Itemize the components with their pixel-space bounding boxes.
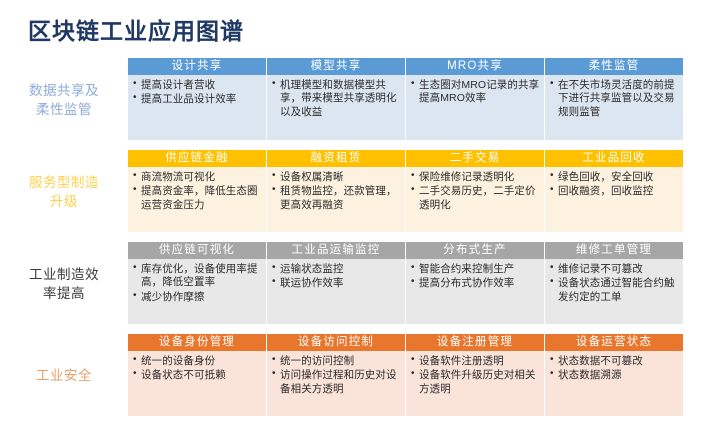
matrix-row: 工业安全设备身份管理统一的设备身份设备状态不可抵赖设备访问控制统一的访问控制访问… <box>0 334 713 419</box>
card-bullet-list: 库存优化，设备使用率提高，降低空置率减少协作摩擦 <box>133 263 262 304</box>
card-heading: 供应链金融 <box>128 150 266 167</box>
card-body: 智能合约来控制生产提高分布式协作效率 <box>406 259 544 324</box>
card-bullet-list: 统一的访问控制访问操作过程和历史对设备相关方透明 <box>272 355 401 396</box>
card-bullet: 二手交易历史，二手定价透明化 <box>411 185 540 212</box>
card-bullet-list: 智能合约来控制生产提高分布式协作效率 <box>411 263 540 291</box>
card-bullet: 保险维修记录透明化 <box>411 171 540 184</box>
matrix-card[interactable]: 工业品运输监控运输状态监控联运协作效率 <box>267 242 405 324</box>
card-body: 维修记录不可篡改设备状态通过智能合约触发约定的工单 <box>545 259 683 324</box>
matrix-card[interactable]: 设备注册管理设备软件注册透明设备软件升级历史对相关方透明 <box>406 334 544 416</box>
card-heading: 设备注册管理 <box>406 334 544 351</box>
card-body: 商流物流可视化提高资金率，降低生态圈运营资金压力 <box>128 167 266 232</box>
card-bullet: 统一的访问控制 <box>272 355 401 368</box>
matrix-card[interactable]: 模型共享机理模型和数据模型共享，带来模型共享透明化以及收益 <box>267 58 405 140</box>
row-cards: 设备身份管理统一的设备身份设备状态不可抵赖设备访问控制统一的访问控制访问操作过程… <box>128 334 693 419</box>
card-bullet: 状态数据不可篡改 <box>550 355 679 368</box>
matrix-card[interactable]: 设备运营状态状态数据不可篡改状态数据溯源 <box>545 334 683 416</box>
card-bullet: 设备软件注册透明 <box>411 355 540 368</box>
card-bullet: 在不失市场灵活度的前提下进行共享监管以及交易规则监管 <box>550 79 679 119</box>
card-body: 生态圈对MRO记录的共享提高MRO效率 <box>406 75 544 140</box>
row-label-4: 工业安全 <box>8 334 120 419</box>
card-body: 库存优化，设备使用率提高，降低空置率减少协作摩擦 <box>128 259 266 324</box>
card-heading: 模型共享 <box>267 58 405 75</box>
slide-canvas: 区块链工业应用图谱 数据共享及柔性监管设计共享提高设计者营收提高工业品设计效率模… <box>0 0 713 443</box>
row-label-text: 数据共享及柔性监管 <box>29 82 99 118</box>
matrix-card[interactable]: 供应链金融商流物流可视化提高资金率，降低生态圈运营资金压力 <box>128 150 266 232</box>
card-bullet-list: 保险维修记录透明化二手交易历史，二手定价透明化 <box>411 171 540 212</box>
card-body: 保险维修记录透明化二手交易历史，二手定价透明化 <box>406 167 544 232</box>
card-body: 统一的设备身份设备状态不可抵赖 <box>128 351 266 416</box>
matrix-grid: 数据共享及柔性监管设计共享提高设计者营收提高工业品设计效率模型共享机理模型和数据… <box>0 58 713 426</box>
card-bullet: 统一的设备身份 <box>133 355 262 368</box>
card-body: 绿色回收，安全回收回收融资，回收监控 <box>545 167 683 232</box>
card-heading: 设计共享 <box>128 58 266 75</box>
card-heading: 分布式生产 <box>406 242 544 259</box>
card-heading: 设备身份管理 <box>128 334 266 351</box>
card-bullet-list: 状态数据不可篡改状态数据溯源 <box>550 355 679 383</box>
card-heading: 设备运营状态 <box>545 334 683 351</box>
card-bullet-list: 绿色回收，安全回收回收融资，回收监控 <box>550 171 679 199</box>
card-bullet: 库存优化，设备使用率提高，降低空置率 <box>133 263 262 290</box>
card-bullet: 提高工业品设计效率 <box>133 93 262 106</box>
card-body: 提高设计者营收提高工业品设计效率 <box>128 75 266 140</box>
card-heading: 供应链可视化 <box>128 242 266 259</box>
matrix-card[interactable]: 供应链可视化库存优化，设备使用率提高，降低空置率减少协作摩擦 <box>128 242 266 324</box>
row-label-3: 工业制造效率提高 <box>8 242 120 327</box>
matrix-card[interactable]: 柔性监管在不失市场灵活度的前提下进行共享监管以及交易规则监管 <box>545 58 683 140</box>
matrix-card[interactable]: 维修工单管理维修记录不可篡改设备状态通过智能合约触发约定的工单 <box>545 242 683 324</box>
card-bullet: 商流物流可视化 <box>133 171 262 184</box>
card-bullet: 机理模型和数据模型共享，带来模型共享透明化以及收益 <box>272 79 401 119</box>
card-bullet: 租赁物监控，还款管理，更高效再融资 <box>272 185 401 212</box>
card-body: 运输状态监控联运协作效率 <box>267 259 405 324</box>
card-bullet: 绿色回收，安全回收 <box>550 171 679 184</box>
card-bullet: 智能合约来控制生产 <box>411 263 540 276</box>
card-heading: 二手交易 <box>406 150 544 167</box>
row-label-2: 服务型制造升级 <box>8 150 120 235</box>
card-bullet: 回收融资，回收监控 <box>550 185 679 198</box>
card-body: 统一的访问控制访问操作过程和历史对设备相关方透明 <box>267 351 405 416</box>
card-heading: 融资租赁 <box>267 150 405 167</box>
card-bullet-list: 统一的设备身份设备状态不可抵赖 <box>133 355 262 383</box>
card-bullet: 运输状态监控 <box>272 263 401 276</box>
row-cards: 供应链金融商流物流可视化提高资金率，降低生态圈运营资金压力融资租赁设备权属清晰租… <box>128 150 693 235</box>
page-title: 区块链工业应用图谱 <box>28 12 244 46</box>
card-bullet: 提高分布式协作效率 <box>411 277 540 290</box>
row-cards: 设计共享提高设计者营收提高工业品设计效率模型共享机理模型和数据模型共享，带来模型… <box>128 58 693 143</box>
card-bullet: 维修记录不可篡改 <box>550 263 679 276</box>
matrix-card[interactable]: 工业品回收绿色回收，安全回收回收融资，回收监控 <box>545 150 683 232</box>
card-bullet: 提高设计者营收 <box>133 79 262 92</box>
card-heading: MRO共享 <box>406 58 544 75</box>
matrix-row: 服务型制造升级供应链金融商流物流可视化提高资金率，降低生态圈运营资金压力融资租赁… <box>0 150 713 235</box>
row-cards: 供应链可视化库存优化，设备使用率提高，降低空置率减少协作摩擦工业品运输监控运输状… <box>128 242 693 327</box>
card-bullet-list: 设备软件注册透明设备软件升级历史对相关方透明 <box>411 355 540 396</box>
card-bullet-list: 设备权属清晰租赁物监控，还款管理，更高效再融资 <box>272 171 401 212</box>
card-heading: 工业品回收 <box>545 150 683 167</box>
card-heading: 柔性监管 <box>545 58 683 75</box>
card-heading: 设备访问控制 <box>267 334 405 351</box>
card-bullet: 生态圈对MRO记录的共享提高MRO效率 <box>411 79 540 106</box>
row-label-text: 工业安全 <box>36 367 92 385</box>
matrix-row: 工业制造效率提高供应链可视化库存优化，设备使用率提高，降低空置率减少协作摩擦工业… <box>0 242 713 327</box>
card-bullet-list: 提高设计者营收提高工业品设计效率 <box>133 79 262 107</box>
matrix-card[interactable]: 二手交易保险维修记录透明化二手交易历史，二手定价透明化 <box>406 150 544 232</box>
matrix-card[interactable]: 设计共享提高设计者营收提高工业品设计效率 <box>128 58 266 140</box>
matrix-row: 数据共享及柔性监管设计共享提高设计者营收提高工业品设计效率模型共享机理模型和数据… <box>0 58 713 143</box>
card-bullet-list: 运输状态监控联运协作效率 <box>272 263 401 291</box>
matrix-card[interactable]: MRO共享生态圈对MRO记录的共享提高MRO效率 <box>406 58 544 140</box>
card-bullet: 设备状态不可抵赖 <box>133 369 262 382</box>
card-bullet: 提高资金率，降低生态圈运营资金压力 <box>133 185 262 212</box>
card-bullet: 访问操作过程和历史对设备相关方透明 <box>272 369 401 396</box>
row-label-text: 服务型制造升级 <box>29 174 99 210</box>
card-bullet: 设备权属清晰 <box>272 171 401 184</box>
card-bullet-list: 维修记录不可篡改设备状态通过智能合约触发约定的工单 <box>550 263 679 304</box>
matrix-card[interactable]: 设备身份管理统一的设备身份设备状态不可抵赖 <box>128 334 266 416</box>
card-bullet-list: 生态圈对MRO记录的共享提高MRO效率 <box>411 79 540 106</box>
card-body: 机理模型和数据模型共享，带来模型共享透明化以及收益 <box>267 75 405 140</box>
card-bullet: 联运协作效率 <box>272 277 401 290</box>
matrix-card[interactable]: 设备访问控制统一的访问控制访问操作过程和历史对设备相关方透明 <box>267 334 405 416</box>
card-bullet-list: 在不失市场灵活度的前提下进行共享监管以及交易规则监管 <box>550 79 679 119</box>
card-body: 设备软件注册透明设备软件升级历史对相关方透明 <box>406 351 544 416</box>
card-bullet: 减少协作摩擦 <box>133 291 262 304</box>
card-body: 状态数据不可篡改状态数据溯源 <box>545 351 683 416</box>
card-heading: 维修工单管理 <box>545 242 683 259</box>
card-body: 在不失市场灵活度的前提下进行共享监管以及交易规则监管 <box>545 75 683 140</box>
card-heading: 工业品运输监控 <box>267 242 405 259</box>
row-label-1: 数据共享及柔性监管 <box>8 58 120 143</box>
card-bullet-list: 机理模型和数据模型共享，带来模型共享透明化以及收益 <box>272 79 401 119</box>
card-bullet: 设备软件升级历史对相关方透明 <box>411 369 540 396</box>
card-bullet-list: 商流物流可视化提高资金率，降低生态圈运营资金压力 <box>133 171 262 212</box>
matrix-card[interactable]: 融资租赁设备权属清晰租赁物监控，还款管理，更高效再融资 <box>267 150 405 232</box>
card-bullet: 设备状态通过智能合约触发约定的工单 <box>550 277 679 304</box>
card-body: 设备权属清晰租赁物监控，还款管理，更高效再融资 <box>267 167 405 232</box>
card-bullet: 状态数据溯源 <box>550 369 679 382</box>
row-label-text: 工业制造效率提高 <box>29 266 99 302</box>
matrix-card[interactable]: 分布式生产智能合约来控制生产提高分布式协作效率 <box>406 242 544 324</box>
